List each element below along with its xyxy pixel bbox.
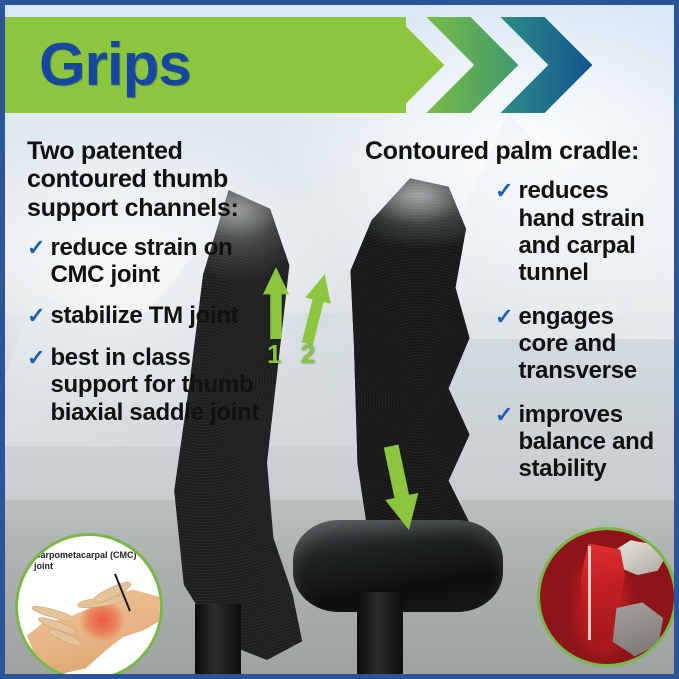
pole-shaft-right: [357, 592, 403, 674]
check-icon: ✓: [27, 345, 45, 371]
check-icon: ✓: [495, 402, 513, 428]
list-item-label: engages core and transverse: [518, 303, 665, 385]
page-title: Grips: [39, 35, 191, 95]
list-item: ✓ engages core and transverse: [495, 303, 665, 385]
pole-shaft-left: [195, 604, 241, 674]
list-item-label: best in class support for thumb biaxial …: [50, 344, 277, 426]
check-icon: ✓: [495, 178, 513, 204]
list-item: ✓ improves balance and stability: [495, 401, 665, 483]
left-column-heading: Two patented contoured thumb support cha…: [27, 137, 277, 222]
list-item-label: improves balance and stability: [518, 401, 665, 483]
list-item: ✓ reduce strain on CMC joint: [27, 234, 277, 289]
list-item: ✓ reduces hand strain and carpal tunnel: [495, 177, 665, 286]
list-item: ✓ stabilize TM joint: [27, 302, 277, 329]
right-feature-column: Contoured palm cradle: ✓ reduces hand st…: [365, 137, 665, 499]
muscle-highlight-line: [588, 546, 591, 640]
list-item-label: stabilize TM joint: [50, 302, 238, 329]
check-icon: ✓: [27, 303, 45, 329]
check-icon: ✓: [495, 304, 513, 330]
right-bullet-list: ✓ reduces hand strain and carpal tunnel …: [495, 177, 665, 483]
arrow-label-2: 2: [301, 341, 315, 367]
infographic-frame: Grips 1 2 Two patented contoured thumb s…: [0, 0, 679, 679]
list-item-label: reduce strain on CMC joint: [50, 234, 277, 289]
left-feature-column: Two patented contoured thumb support cha…: [27, 137, 277, 440]
list-item: ✓ best in class support for thumb biaxia…: [27, 344, 277, 426]
left-bullet-list: ✓ reduce strain on CMC joint ✓ stabilize…: [27, 234, 277, 426]
core-muscle-inset: [537, 527, 677, 667]
header-banner: Grips: [5, 17, 674, 113]
right-column-heading: Contoured palm cradle:: [365, 137, 665, 165]
cmc-joint-inset: Carpometacarpal (CMC) joint: [15, 533, 163, 679]
cmc-inset-label: Carpometacarpal (CMC) joint: [34, 550, 142, 573]
check-icon: ✓: [27, 235, 45, 261]
list-item-label: reduces hand strain and carpal tunnel: [518, 177, 665, 286]
